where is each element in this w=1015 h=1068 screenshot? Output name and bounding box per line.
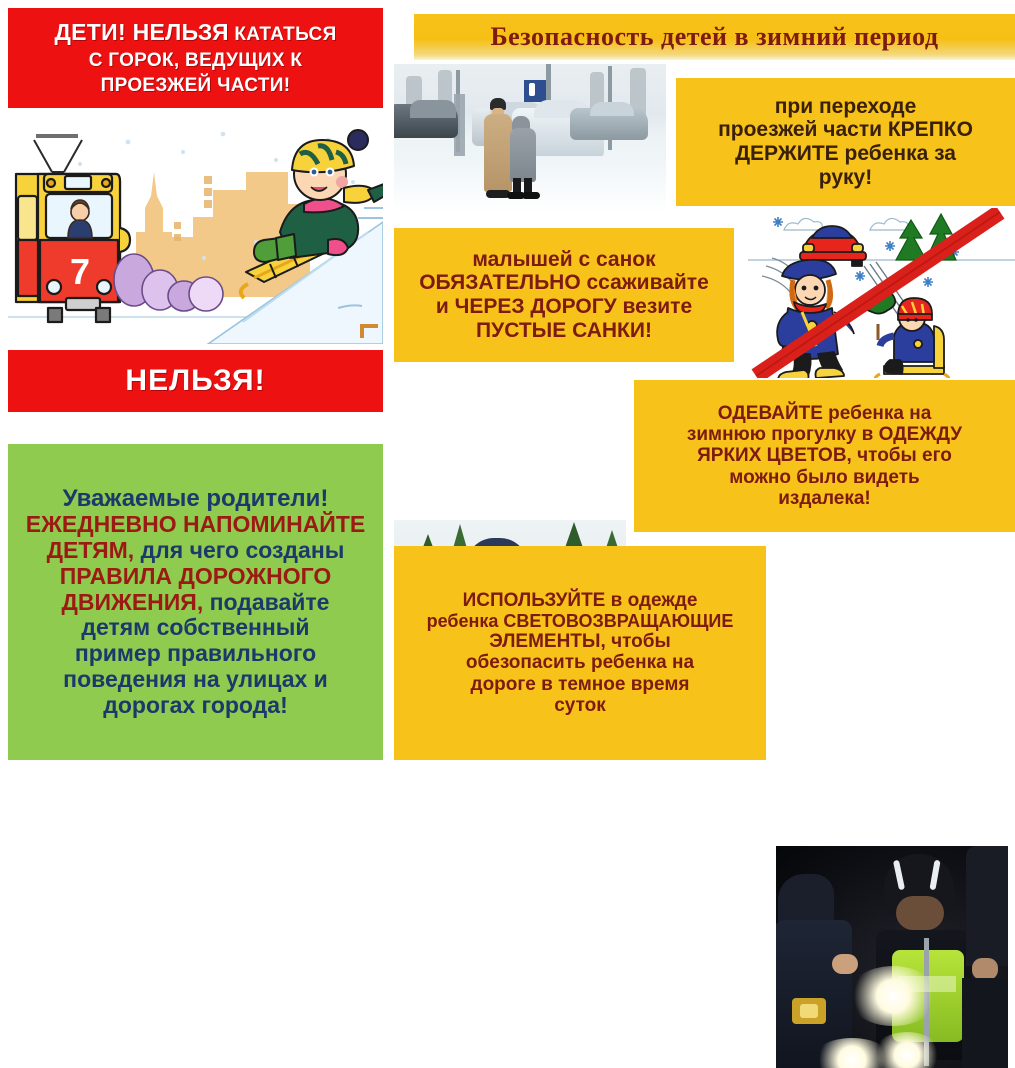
- sled-advice-block: малышей с санок ОБЯЗАТЕЛЬНО ссаживайте и…: [394, 228, 734, 362]
- parents-line-6: детям собственный: [14, 615, 377, 641]
- red-banner-line-2: С ГОРОК, ВЕДУЩИХ К: [16, 50, 375, 71]
- reflective-line-4: обезопасить ребенка на: [398, 652, 762, 673]
- hold-hand-block: при переходе проезжей части КРЕПКО ДЕРЖИ…: [676, 78, 1015, 206]
- bright-clothes-line-3: ЯРКИХ ЦВЕТОВ, чтобы его: [640, 445, 1009, 466]
- parents-line-1: Уважаемые родители!: [14, 486, 377, 513]
- red-banner-line-1: ДЕТИ! НЕЛЬЗЯ КАТАТЬСЯ: [16, 20, 375, 46]
- parents-line-7: пример правильного: [14, 641, 377, 667]
- bright-clothes-block: ОДЕВАЙТЕ ребенка на зимнюю прогулку в ОД…: [634, 380, 1015, 532]
- reflective-line-3: ЭЛЕМЕНТЫ, чтобы: [398, 631, 762, 652]
- parents-line-9: дорогах города!: [14, 693, 377, 719]
- snowy-street-crossing-photo: [394, 64, 666, 212]
- bright-clothes-line-5: издалека!: [640, 488, 1009, 509]
- poster-root: ДЕТИ! НЕЛЬЗЯ КАТАТЬСЯ С ГОРОК, ВЕДУЩИХ К…: [0, 0, 1015, 768]
- parents-line-4: ПРАВИЛА ДОРОЖНОГО: [14, 564, 377, 590]
- reflective-elements-block: ИСПОЛЬЗУЙТЕ в одежде ребенка СВЕТОВОЗВРА…: [394, 546, 766, 760]
- bright-clothes-line-1: ОДЕВАЙТЕ ребенка на: [640, 403, 1009, 424]
- nelzya-banner: НЕЛЬЗЯ!: [8, 350, 383, 412]
- parents-line-8: поведения на улицах и: [14, 667, 377, 693]
- parents-line-5: ДВИЖЕНИЯ, подавайте: [14, 590, 377, 616]
- sled-prohibition-svg: [748, 208, 1015, 378]
- sled-line-2: ОБЯЗАТЕЛЬНО ссаживайте: [400, 271, 728, 295]
- hold-hand-line-4: руку!: [684, 166, 1007, 190]
- reflective-line-6: суток: [398, 695, 762, 716]
- svg-text:7: 7: [70, 251, 90, 292]
- nelzya-label: НЕЛЬЗЯ!: [8, 364, 383, 398]
- hold-hand-line-3: ДЕРЖИТЕ ребенка за: [684, 142, 1007, 166]
- parents-line-3: ДЕТЯМ, для чего созданы: [14, 538, 377, 564]
- sled-line-1: малышей с санок: [400, 248, 728, 272]
- page-title: Безопасность детей в зимний период: [490, 22, 938, 52]
- tram-illustration-svg: 7: [8, 112, 383, 344]
- hold-hand-line-2: проезжей части КРЕПКО: [684, 118, 1007, 142]
- tram-illustration: 7: [8, 112, 383, 344]
- reflective-line-1: ИСПОЛЬЗУЙТЕ в одежде: [398, 590, 762, 611]
- bright-clothes-line-2: зимнюю прогулку в ОДЕЖДУ: [640, 424, 1009, 445]
- red-banner-line-3: ПРОЕЗЖЕЙ ЧАСТИ!: [16, 75, 375, 96]
- reflective-line-2: ребенка СВЕТОВОЗВРАЩАЮЩИЕ: [398, 611, 762, 631]
- parents-line-2: ЕЖЕДНЕВНО НАПОМИНАЙТЕ: [14, 512, 377, 538]
- sled-line-4: ПУСТЫЕ САНКИ!: [400, 319, 728, 343]
- hold-hand-line-1: при переходе: [684, 95, 1007, 119]
- bright-clothes-line-4: можно было видеть: [640, 467, 1009, 488]
- red-warning-banner: ДЕТИ! НЕЛЬЗЯ КАТАТЬСЯ С ГОРОК, ВЕДУЩИХ К…: [8, 8, 383, 108]
- sled-line-3: и ЧЕРЕЗ ДОРОГУ везите: [400, 295, 728, 319]
- parents-advice-block: Уважаемые родители! ЕЖЕДНЕВНО НАПОМИНАЙТ…: [8, 444, 383, 760]
- night-reflective-vest-photo: [776, 846, 1008, 1068]
- reflective-line-5: дороге в темное время: [398, 674, 762, 695]
- poster-title-bar: Безопасность детей в зимний период: [414, 14, 1015, 60]
- crossing-with-sled-prohibited-illustration: [748, 208, 1015, 378]
